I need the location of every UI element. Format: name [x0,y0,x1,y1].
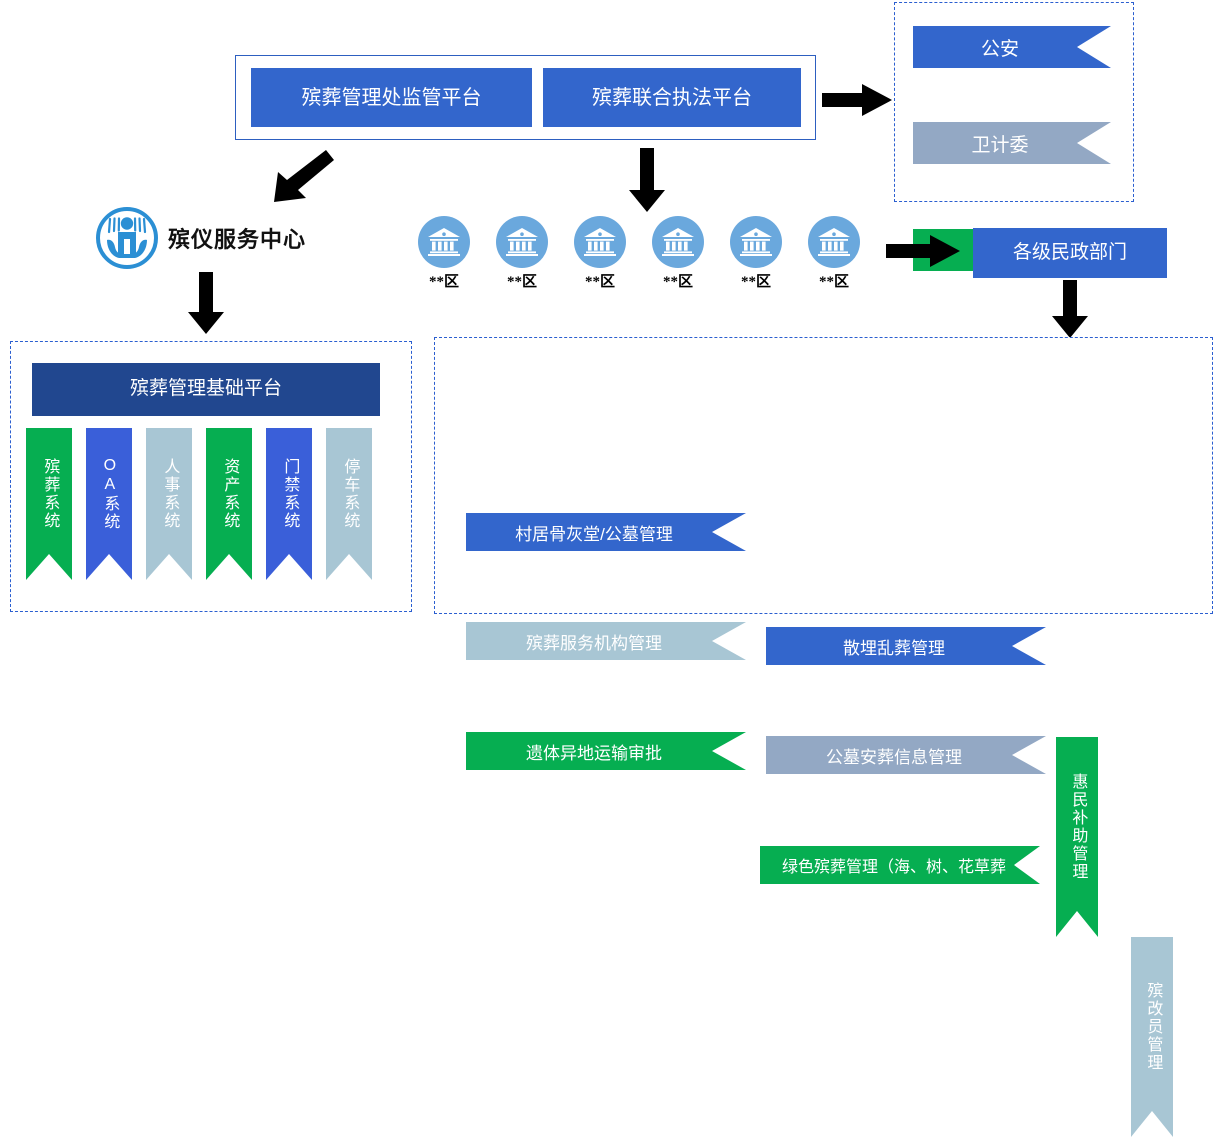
business-ribbon-green-funeral[interactable]: 绿色殡葬管理（海、树、花草葬 [760,846,1040,884]
system-assets-label: 资产系统 [221,458,238,530]
platform-supervision-card[interactable]: 殡葬管理处监管平台 [251,68,532,127]
institution-bank-icon [652,216,704,268]
business-ribbon-body-transport-approval[interactable]: 遗体异地运输审批 [466,732,746,770]
system-ribbon-hr[interactable]: 人事系统 [146,428,192,580]
system-ribbon-oa[interactable]: OA系统 [86,428,132,580]
arrow-top-to-agencies [822,84,892,116]
service-center-group: 殡仪服务中心 [96,206,336,270]
civil-affairs-label: 各级民政部门 [1013,242,1127,265]
agency-public-security-label: 公安 [981,34,1019,61]
business-ribbon-reform-officer[interactable]: 殡改员管理 [1131,937,1173,1137]
business-reform-officer-label: 殡改员管理 [1144,982,1161,1072]
business-village-columbarium-label: 村居骨灰堂/公墓管理 [515,520,673,545]
district-label: **区 [741,270,771,291]
base-systems-row: 殡葬系统 OA系统 人事系统 资产系统 门禁系统 停车系统 [26,428,396,580]
business-ribbon-village-columbarium[interactable]: 村居骨灰堂/公墓管理 [466,513,746,551]
business-benefit-subsidy-label: 惠民补助管理 [1069,773,1086,881]
business-ribbon-scattered-burial[interactable]: 散埋乱葬管理 [766,627,1046,665]
platform-enforcement-card[interactable]: 殡葬联合执法平台 [543,68,801,127]
institution-bank-icon [808,216,860,268]
agency-health-commission-label: 卫计委 [971,130,1028,157]
platform-supervision-label: 殡葬管理处监管平台 [302,86,482,110]
system-parking-label: 停车系统 [341,458,358,530]
system-ribbon-funeral[interactable]: 殡葬系统 [26,428,72,580]
system-ribbon-parking[interactable]: 停车系统 [326,428,372,580]
business-ribbon-cemetery-info[interactable]: 公墓安葬信息管理 [766,736,1046,774]
base-platform-title-label: 殡葬管理基础平台 [130,378,282,401]
business-panel [434,337,1213,614]
institution-bank-icon [574,216,626,268]
civil-affairs-card[interactable]: 各级民政部门 [973,228,1167,278]
arrow-districts-to-civil-affairs [886,235,960,267]
arrow-civil-affairs-to-business-panel [1052,280,1088,338]
business-ribbon-benefit-subsidy[interactable]: 惠民补助管理 [1056,737,1098,937]
platform-enforcement-label: 殡葬联合执法平台 [592,86,752,110]
system-oa-label: OA系统 [101,457,118,531]
arrow-service-center-to-base-panel [188,272,224,334]
district-item[interactable]: **区 [808,216,860,296]
institution-bank-icon [730,216,782,268]
district-label: **区 [429,270,459,291]
district-label: **区 [819,270,849,291]
district-item[interactable]: **区 [496,216,548,296]
district-item[interactable]: **区 [730,216,782,296]
institution-bank-icon [496,216,548,268]
business-green-funeral-label: 绿色殡葬管理（海、树、花草葬 [782,853,1006,877]
district-label: **区 [663,270,693,291]
system-ribbon-access-control[interactable]: 门禁系统 [266,428,312,580]
district-item[interactable]: **区 [574,216,626,296]
district-item[interactable]: **区 [418,216,470,296]
district-item[interactable]: **区 [652,216,704,296]
district-label: **区 [585,270,615,291]
system-ribbon-assets[interactable]: 资产系统 [206,428,252,580]
institution-bank-icon [418,216,470,268]
arrow-platform-to-districts [629,148,665,212]
service-center-label: 殡仪服务中心 [168,222,306,254]
system-hr-label: 人事系统 [161,458,178,530]
district-label: **区 [507,270,537,291]
arrow-platform-to-service-center [268,150,334,206]
base-platform-title-card[interactable]: 殡葬管理基础平台 [32,363,380,416]
funeral-service-center-logo-icon [96,207,158,269]
business-funeral-institutions-label: 殡葬服务机构管理 [526,629,662,654]
business-body-transport-approval-label: 遗体异地运输审批 [526,739,662,764]
business-scattered-burial-label: 散埋乱葬管理 [843,634,945,659]
business-ribbon-funeral-institutions[interactable]: 殡葬服务机构管理 [466,622,746,660]
business-cemetery-info-label: 公墓安葬信息管理 [826,743,962,768]
districts-row: **区 **区 [418,216,868,296]
system-access-control-label: 门禁系统 [281,458,298,530]
system-funeral-label: 殡葬系统 [41,458,58,530]
